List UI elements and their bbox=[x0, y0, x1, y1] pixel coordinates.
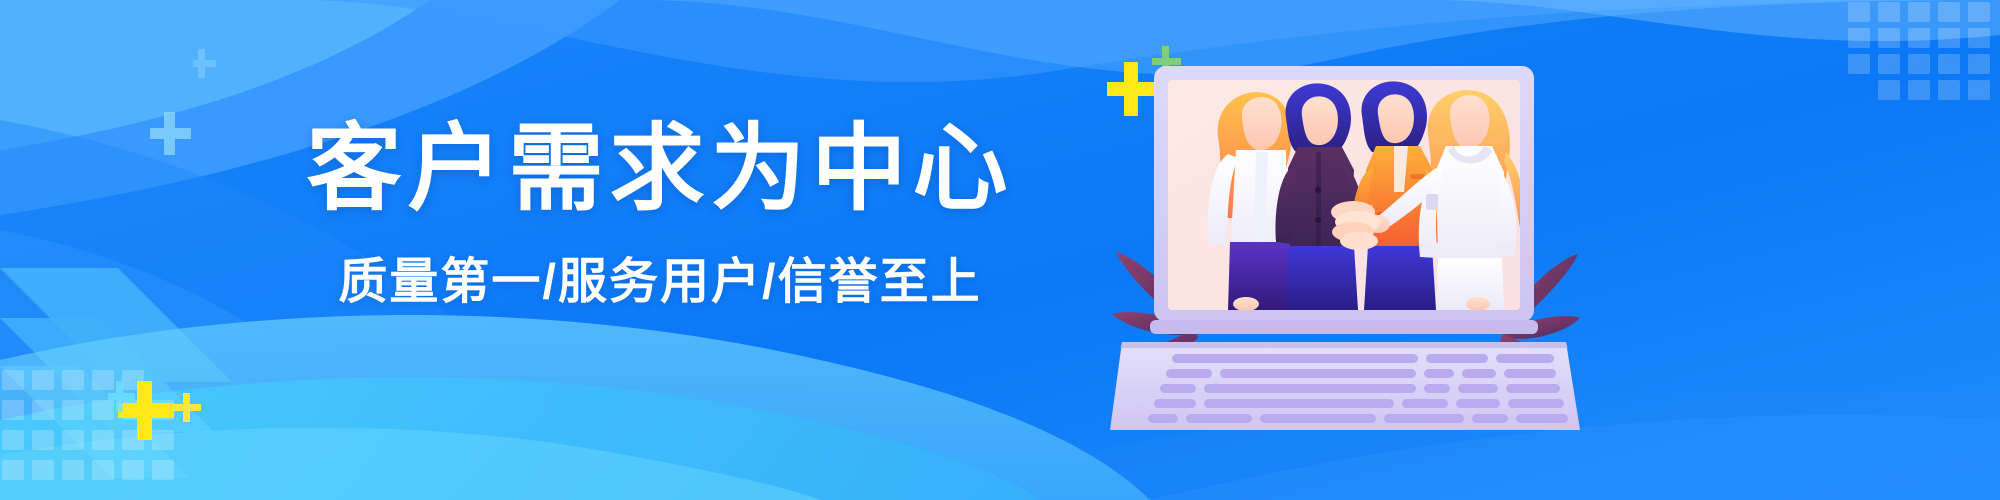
plus-light-blue bbox=[150, 49, 216, 155]
headline-block: 客户需求为中心 质量第一/服务用户/信誉至上 bbox=[300, 120, 1020, 313]
page-title: 客户需求为中心 bbox=[300, 120, 1020, 220]
promo-banner: 客户需求为中心 质量第一/服务用户/信誉至上 bbox=[0, 0, 2000, 500]
person-2 bbox=[1276, 83, 1364, 310]
plus-small-yellow bbox=[174, 393, 201, 422]
subtitle: 质量第一/服务用户/信誉至上 bbox=[300, 242, 1020, 313]
teamwork-laptop-illustration bbox=[1110, 42, 1580, 472]
screen-content bbox=[1168, 80, 1524, 311]
plus-large-yellow bbox=[118, 381, 174, 440]
